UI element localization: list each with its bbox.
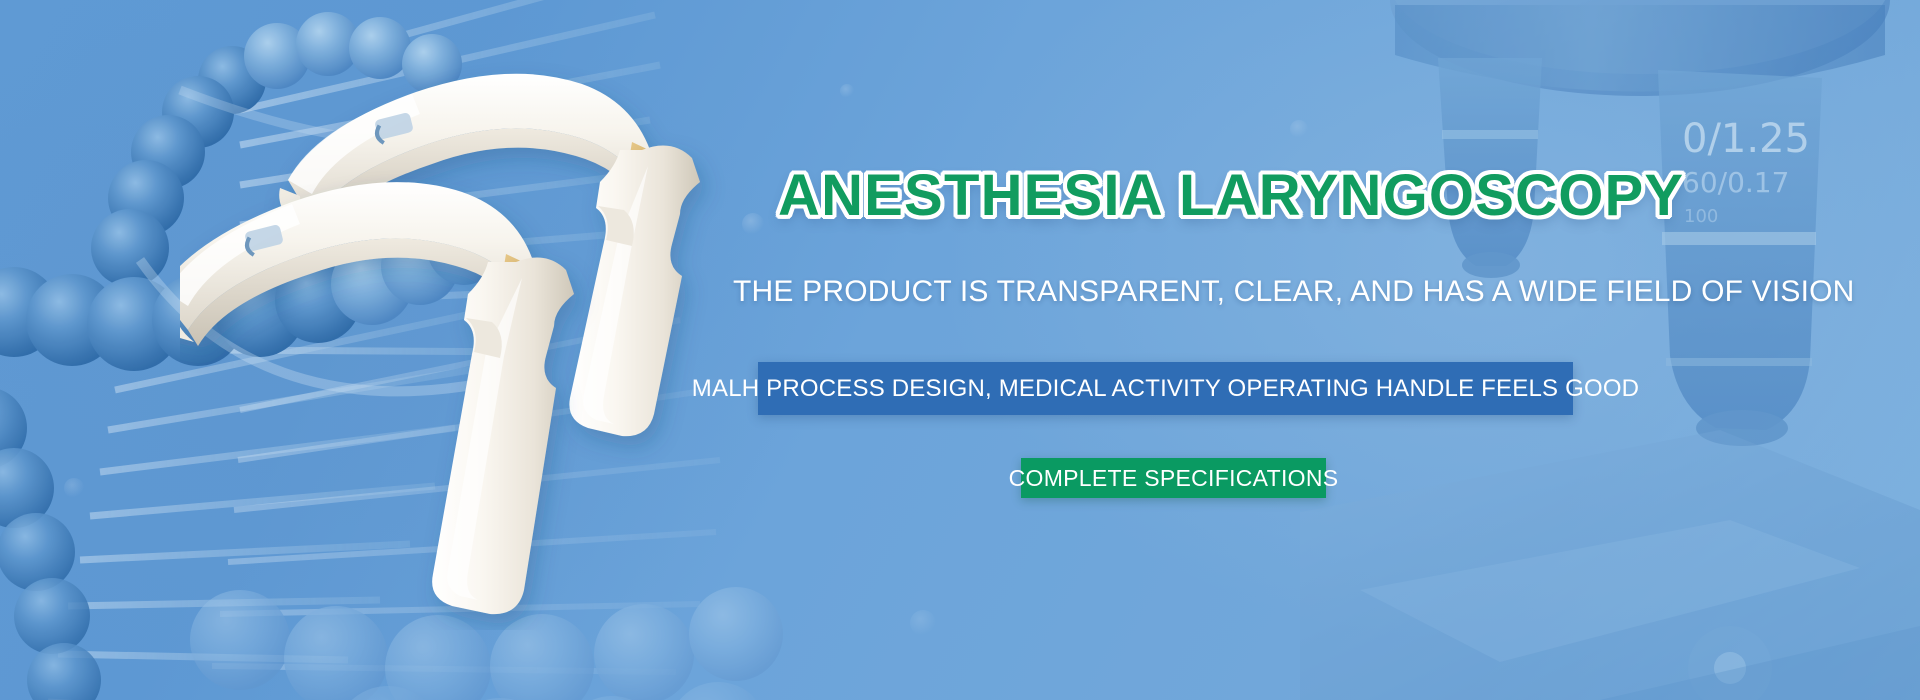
product-promo-banner: 0/1.25 60/0.17 100 40 [0,0,1920,700]
banner-subtitle: THE PRODUCT IS TRANSPARENT, CLEAR, AND H… [733,275,1855,309]
feature-highlight-bar: MALH PROCESS DESIGN, MEDICAL ACTIVITY OP… [758,362,1573,415]
complete-specifications-label: COMPLETE SPECIFICATIONS [1009,465,1339,492]
page-title: ANESTHESIA LARYNGOSCOPY [778,162,1684,229]
complete-specifications-button[interactable]: COMPLETE SPECIFICATIONS [1021,458,1326,498]
banner-content: ANESTHESIA LARYNGOSCOPY THE PRODUCT IS T… [0,0,1920,700]
feature-highlight-text: MALH PROCESS DESIGN, MEDICAL ACTIVITY OP… [692,375,1639,403]
